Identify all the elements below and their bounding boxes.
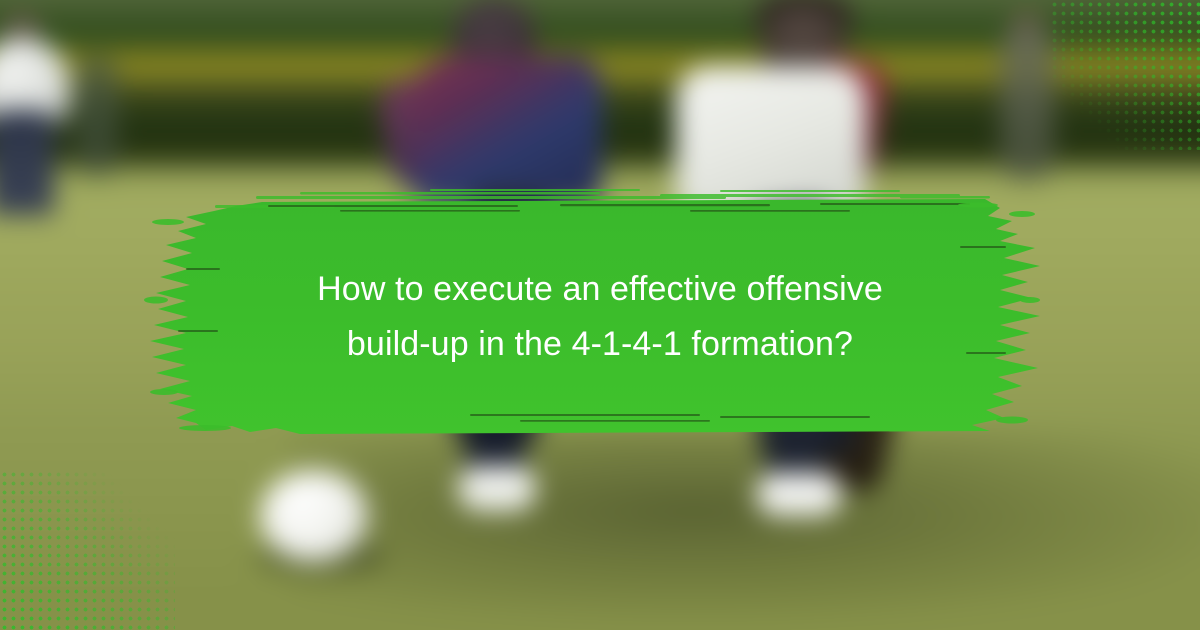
title-banner: How to execute an effective offensive bu… — [0, 0, 1200, 630]
page-title-line-1: How to execute an effective offensive — [317, 270, 883, 308]
social-card: How to execute an effective offensive bu… — [0, 0, 1200, 630]
page-title: How to execute an effective offensive bu… — [180, 262, 1020, 372]
page-title-line-2: build-up in the 4-1-4-1 formation? — [347, 325, 853, 363]
